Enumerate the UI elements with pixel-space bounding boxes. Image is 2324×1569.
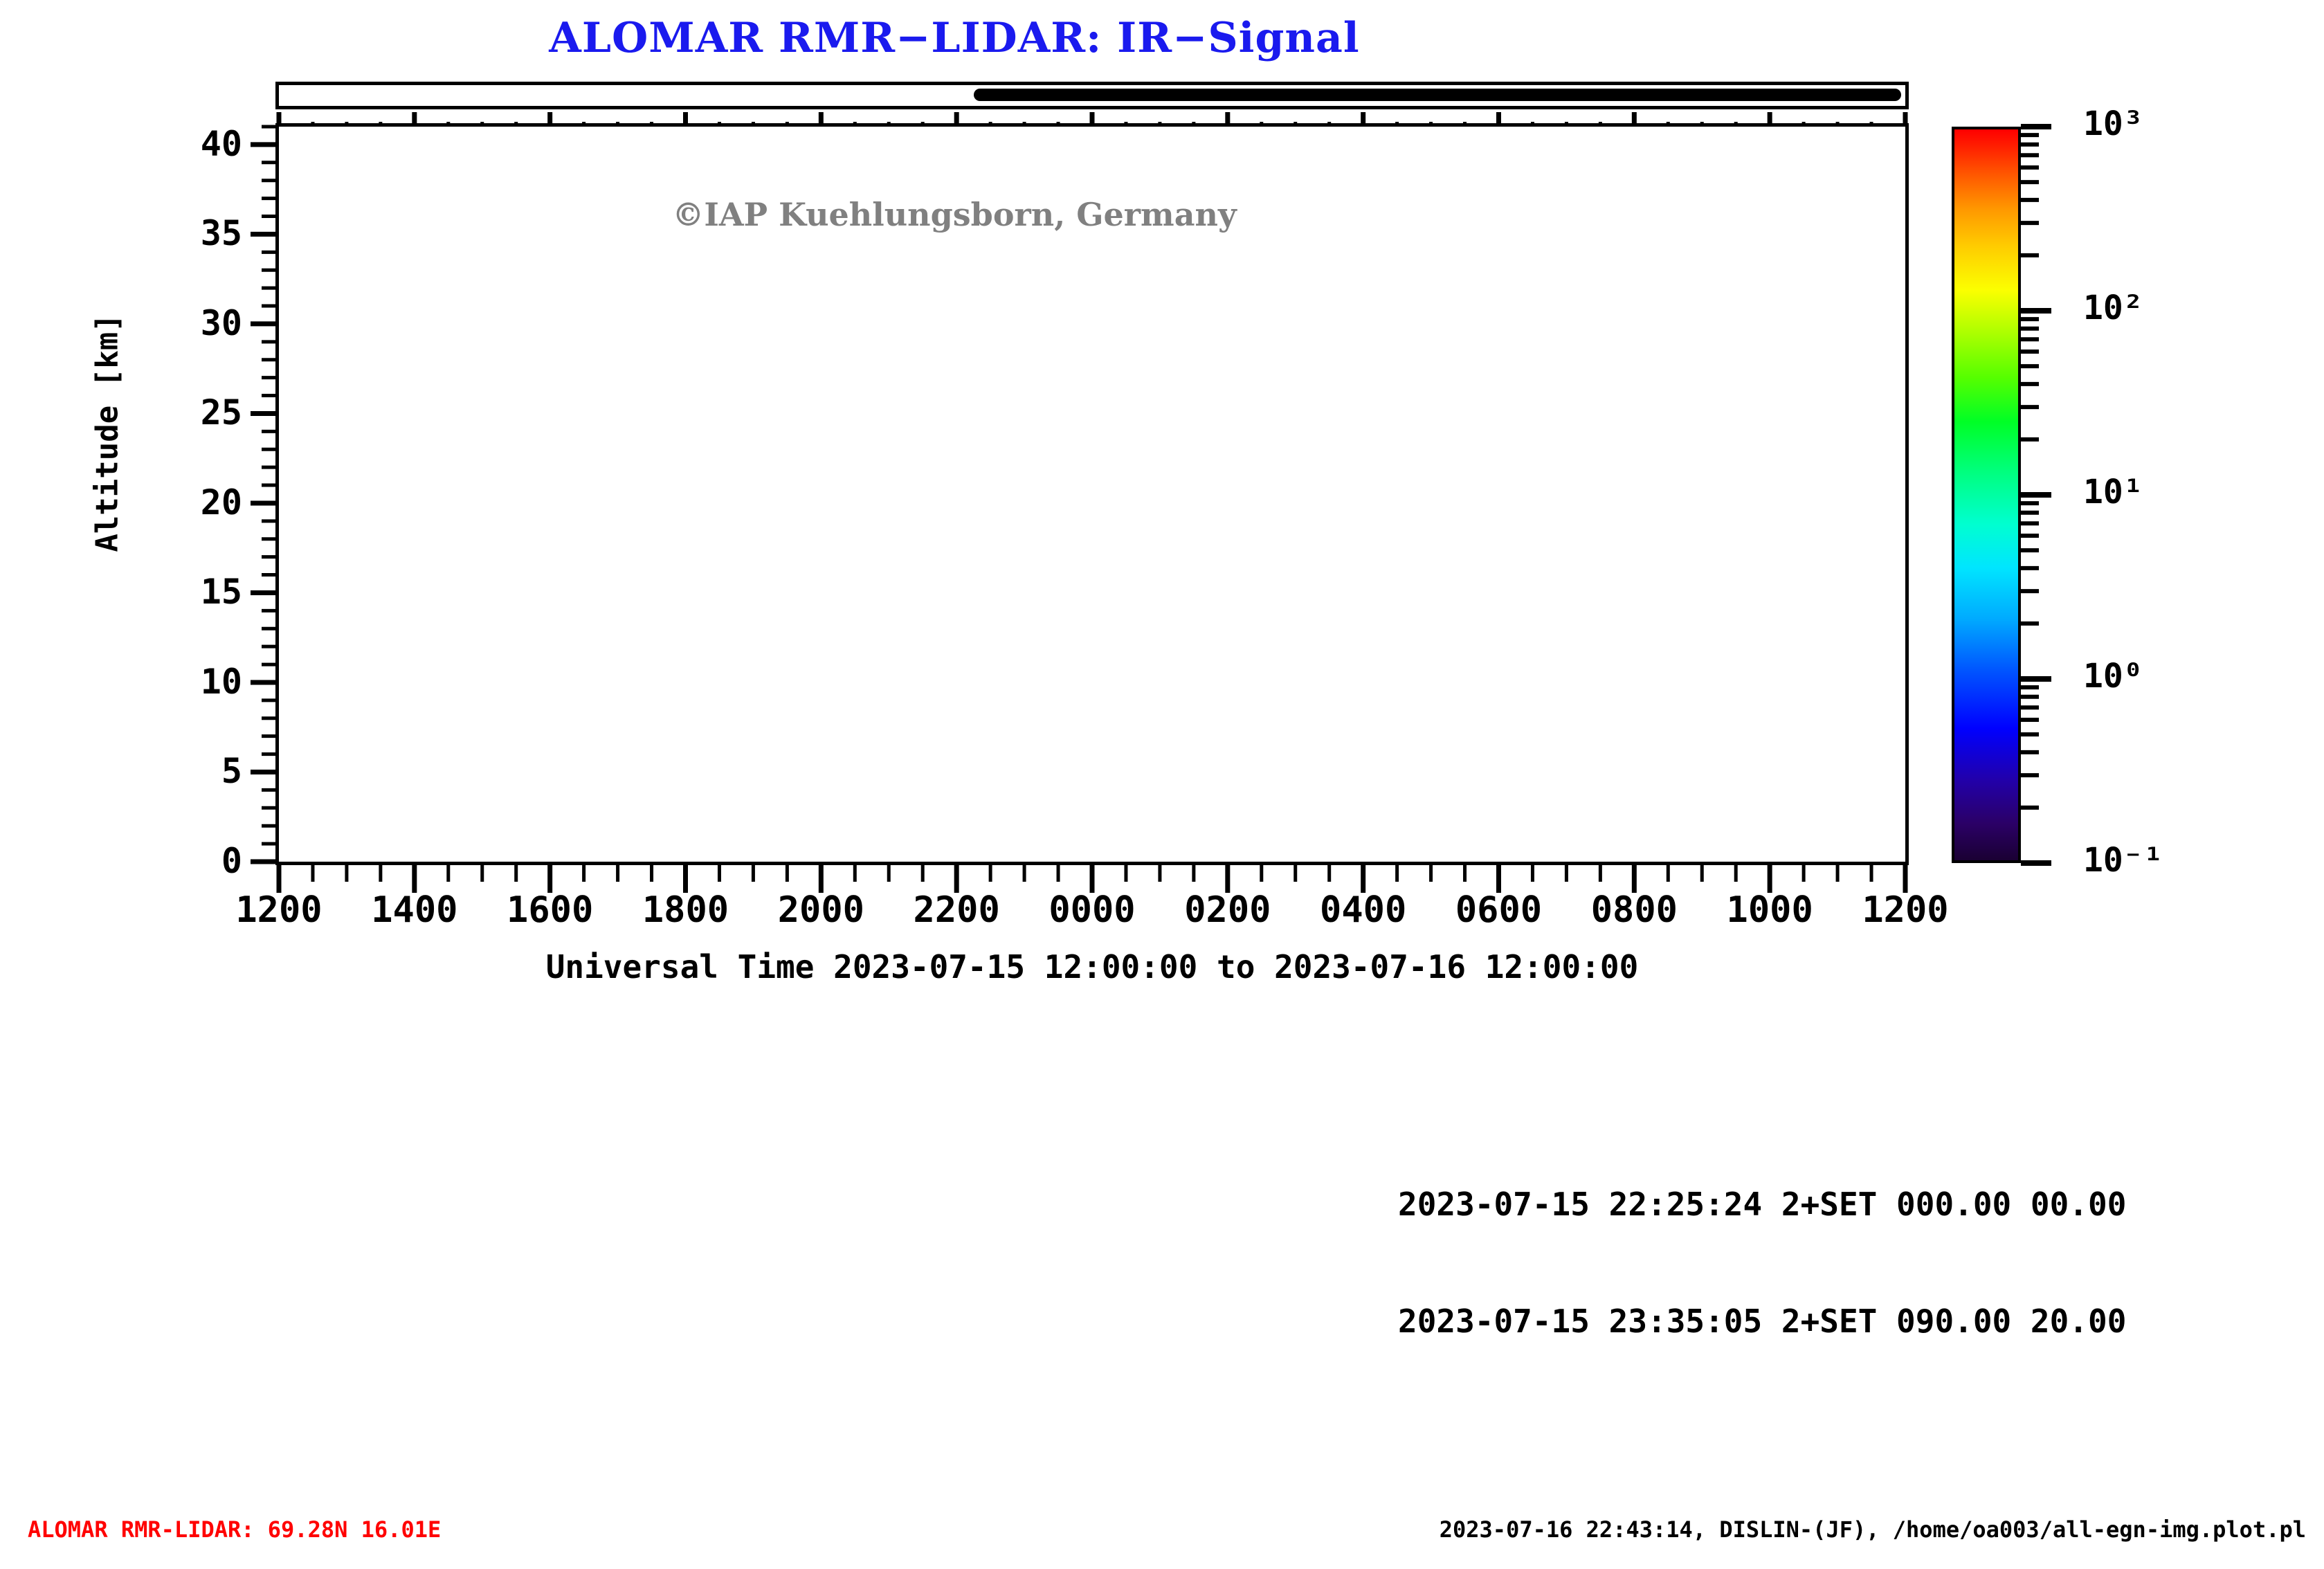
y-tick-label: 35	[118, 213, 242, 253]
y-tick-label: 40	[118, 124, 242, 164]
annotation-line-2: 2023-07-15 23:35:05 2+SET 090.00 20.00	[1398, 1302, 2126, 1341]
colorbar-tick-label: 10⁻¹	[2083, 841, 2242, 880]
measurement-period-bar-fill	[974, 89, 1901, 101]
y-tick-label: 15	[118, 572, 242, 612]
measurement-annotations: 2023-07-15 22:25:24 2+SET 000.00 00.00 2…	[1398, 1107, 2126, 1379]
colorbar	[1952, 127, 2021, 863]
y-tick-label: 20	[118, 482, 242, 523]
y-tick-label: 5	[118, 751, 242, 791]
y-tick-label: 25	[118, 392, 242, 433]
page-title: ALOMAR RMR−LIDAR: IR−Signal	[0, 14, 1909, 62]
plot-frame	[275, 123, 1909, 865]
y-axis-ticks	[248, 123, 275, 865]
colorbar-tick-label: 10³	[2083, 105, 2242, 143]
y-axis-title: Altitude [km]	[90, 260, 125, 606]
y-tick-label: 30	[118, 303, 242, 343]
x-axis-tick-marks	[275, 865, 1909, 897]
colorbar-tick-label: 10²	[2083, 289, 2242, 327]
y-tick-label: 0	[118, 841, 242, 881]
colorbar-tick-label: 10¹	[2083, 473, 2242, 511]
colorbar-tick-label: 10⁰	[2083, 657, 2242, 696]
footer-station-info: ALOMAR RMR-LIDAR: 69.28N 16.01E	[28, 1516, 441, 1543]
x-axis-title: Universal Time 2023-07-15 12:00:00 to 20…	[275, 948, 1909, 986]
annotation-line-1: 2023-07-15 22:25:24 2+SET 000.00 00.00	[1398, 1185, 2126, 1224]
footer-generation-info: 2023-07-16 22:43:14, DISLIN-(JF), /home/…	[1440, 1516, 2306, 1543]
colorbar-gradient	[1954, 129, 2018, 860]
colorbar-ticks	[2021, 127, 2062, 863]
y-tick-label: 10	[118, 662, 242, 702]
y-axis-labels: 0510152025303540	[118, 0, 242, 1569]
